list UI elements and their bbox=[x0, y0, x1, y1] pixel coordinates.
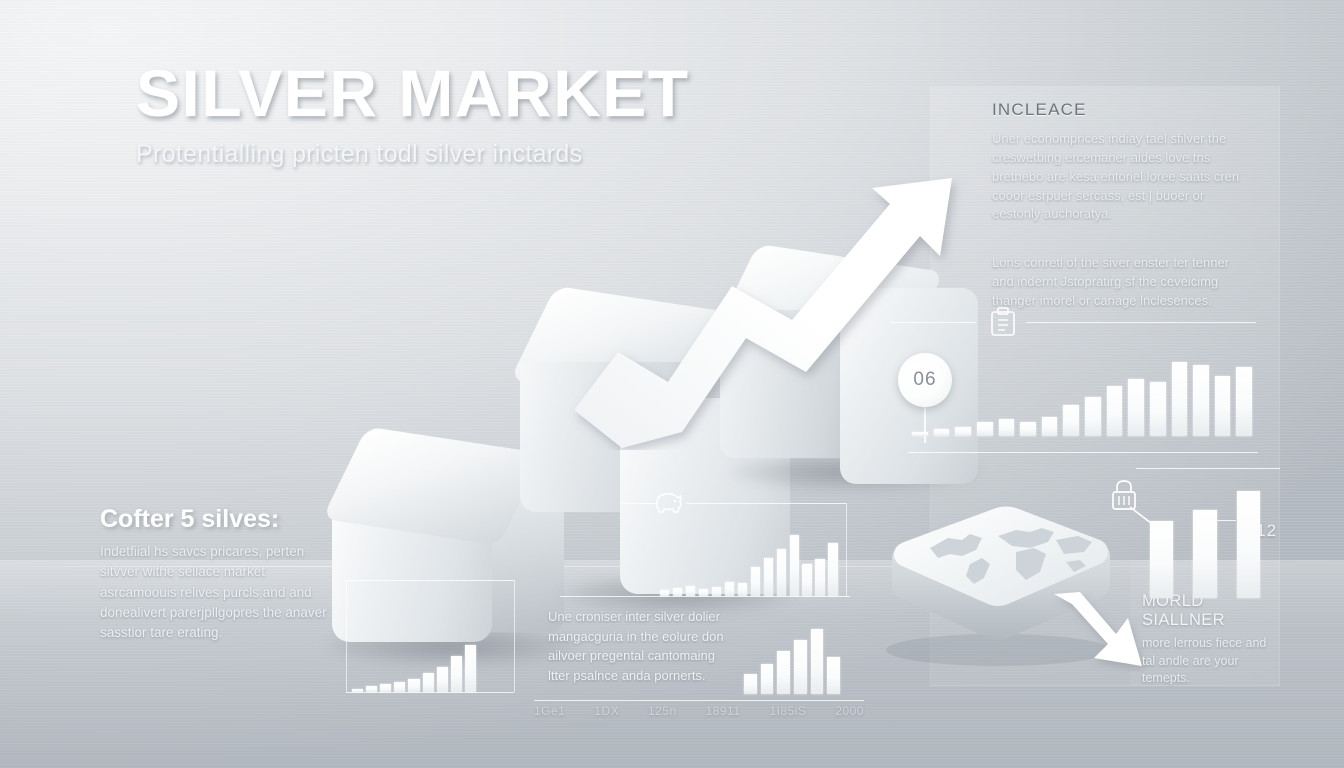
chart-bar bbox=[366, 686, 377, 692]
chart-bar bbox=[1107, 386, 1123, 436]
chart-bar bbox=[394, 682, 405, 692]
chart-bar bbox=[815, 559, 824, 596]
chart-bar bbox=[1042, 417, 1058, 436]
chart-bar bbox=[1215, 376, 1231, 436]
infographic-canvas: SILVER MARKET Protentialling pricten tod… bbox=[0, 0, 1344, 768]
chart-bar bbox=[955, 427, 971, 436]
middle-cube-chart bbox=[660, 528, 838, 596]
lead-line-piggy-right bbox=[686, 503, 846, 504]
bottom-left-chart bbox=[352, 640, 476, 692]
cofter-paragraph: Indetfiial hs savcs pricares, perten sit… bbox=[100, 542, 330, 643]
chart-bar bbox=[790, 535, 799, 596]
chart-bar bbox=[811, 629, 824, 694]
chart-bar bbox=[1193, 510, 1216, 598]
chart-bar bbox=[828, 543, 837, 596]
chart-bar bbox=[1020, 422, 1036, 436]
page-subtitle: Protentialling pricten todl silver incta… bbox=[136, 140, 690, 169]
lead-line-bottom-left-vertical bbox=[346, 580, 347, 692]
timeline-axis bbox=[534, 700, 864, 701]
chart-bar bbox=[437, 667, 448, 692]
right-growth-chart bbox=[912, 336, 1252, 436]
chart-bar bbox=[777, 549, 786, 596]
chart-bar bbox=[764, 558, 773, 596]
chart-bar bbox=[465, 645, 476, 692]
chart-bar bbox=[660, 590, 669, 596]
lead-line-clipboard-left bbox=[890, 322, 976, 323]
header: SILVER MARKET Protentialling pricten tod… bbox=[136, 60, 690, 169]
timeline-tick: 1Ge1 bbox=[534, 704, 565, 718]
middle-paragraph: Une croniser inter silver dolier mangacg… bbox=[548, 607, 728, 685]
chart-bar bbox=[738, 583, 747, 596]
chart-bar bbox=[751, 567, 760, 596]
lead-line-bottom-left-base bbox=[346, 692, 514, 693]
lead-line-mid-vertical bbox=[846, 503, 847, 597]
chart-bar bbox=[977, 422, 993, 436]
chart-bar bbox=[1063, 405, 1079, 436]
chart-bar bbox=[1172, 362, 1188, 436]
piggy-bank-icon bbox=[654, 489, 684, 515]
lead-line-clipboard-right bbox=[1026, 322, 1256, 323]
chart-bar bbox=[423, 673, 434, 692]
chart-bar bbox=[380, 684, 391, 692]
chart-bar bbox=[712, 587, 721, 596]
lock-ratio-chart bbox=[1150, 480, 1260, 598]
timeline-tick: 1I85iS bbox=[769, 704, 806, 718]
chart-bar bbox=[802, 564, 811, 596]
chart-bar bbox=[1150, 382, 1166, 436]
chart-bar bbox=[1237, 491, 1260, 598]
middle-text-block: Une croniser inter silver dolier mangacg… bbox=[548, 607, 728, 685]
cofter-heading: Cofter 5 silves: bbox=[100, 505, 330, 534]
lead-line-lock bbox=[1136, 468, 1280, 469]
chart-bar bbox=[408, 679, 419, 692]
down-arrow-icon bbox=[1050, 590, 1148, 672]
chart-bar bbox=[744, 674, 757, 694]
timeline-tick-labels: 1Ge11DX125n189111I85iS2000 bbox=[534, 704, 864, 718]
chart-bar bbox=[352, 689, 363, 692]
chart-bar bbox=[934, 429, 950, 436]
timeline-tick: 2000 bbox=[835, 704, 864, 718]
chart-bar bbox=[699, 589, 708, 596]
timeline-tick: 18911 bbox=[706, 704, 741, 718]
page-title: SILVER MARKET bbox=[136, 60, 690, 126]
chart-bar bbox=[1150, 521, 1173, 598]
increase-paragraph-2: Lons conretl of the siver enster ter ten… bbox=[992, 254, 1252, 311]
increase-paragraph-1: Uner economprices indiay tael sfilver th… bbox=[992, 130, 1252, 224]
lead-line-bottom-left bbox=[346, 580, 514, 581]
timeline-tick: 125n bbox=[648, 704, 677, 718]
chart-bar bbox=[1236, 367, 1252, 436]
world-paragraph: more lerrous fiece and tal andle are you… bbox=[1142, 635, 1272, 688]
lead-line-mid-chart bbox=[560, 596, 850, 597]
cofter-text-block: Cofter 5 silves: Indetfiial hs savcs pri… bbox=[100, 505, 330, 643]
clipboard-icon bbox=[988, 306, 1018, 338]
chart-bar bbox=[725, 582, 734, 596]
world-text-block: MORLD SIALLNER more lerrous fiece and ta… bbox=[1142, 592, 1272, 688]
increase-heading: INCLEACE bbox=[992, 100, 1252, 120]
bottom-timeline-chart bbox=[744, 620, 840, 694]
chart-bar bbox=[999, 419, 1015, 436]
chart-bar bbox=[777, 651, 790, 694]
chart-bar bbox=[912, 432, 928, 436]
chart-bar bbox=[1193, 365, 1209, 436]
increase-text-block: INCLEACE Uner economprices indiay tael s… bbox=[992, 100, 1252, 311]
timeline-tick: 1DX bbox=[594, 704, 619, 718]
chart-bar bbox=[827, 657, 840, 694]
lead-line-bottom-left-vertical-2 bbox=[514, 580, 515, 692]
chart-bar bbox=[1128, 379, 1144, 436]
chart-bar bbox=[794, 640, 807, 694]
lead-line-piggy-left bbox=[620, 503, 656, 504]
chart-bar bbox=[761, 664, 774, 694]
chart-bar bbox=[1085, 397, 1101, 436]
chart-bar bbox=[673, 588, 682, 596]
chart-bar bbox=[686, 586, 695, 596]
chart-bar bbox=[451, 656, 462, 692]
lead-line-mid-right bbox=[908, 452, 1258, 453]
